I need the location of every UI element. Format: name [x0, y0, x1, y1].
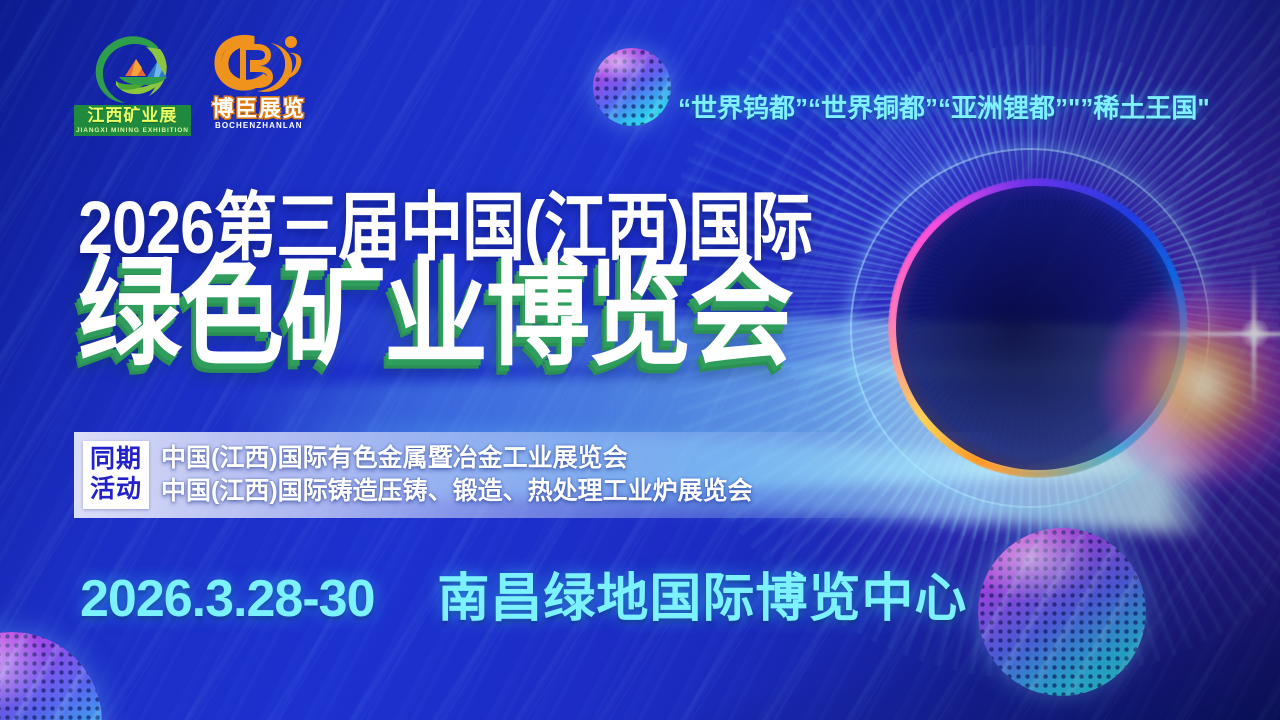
- bochen-logo-cn-text: 博臣展览: [207, 97, 311, 120]
- mountain-leaf-logo-icon: [86, 33, 178, 105]
- badge-line-1: 同期: [90, 445, 142, 475]
- bochen-b-logo-icon: [207, 33, 311, 97]
- halftone-sphere-icon: [593, 48, 671, 126]
- event-venue: 南昌绿地国际博览中心: [437, 570, 967, 628]
- concurrent-events-band: 同期 活动 中国(江西)国际有色金属暨冶金工业展览会 中国(江西)国际铸造压铸、…: [74, 432, 1004, 518]
- concurrent-events-list: 中国(江西)国际有色金属暨冶金工业展览会 中国(江西)国际铸造压铸、锻造、热处理…: [161, 443, 753, 507]
- list-item: 中国(江西)国际铸造压铸、锻造、热处理工业炉展览会: [161, 476, 753, 508]
- bochen-zhanlan-logo: 博臣展览 BOCHENZHANLAN: [207, 33, 311, 130]
- jiangxi-logo-cn-text: 江西矿业展: [74, 105, 191, 127]
- logo-group: 江西矿业展 JIANGXI MINING EXHIBITION 博臣展览 BOC…: [74, 33, 311, 136]
- page-title: 绿色矿业博览会: [78, 255, 792, 374]
- tagline: “世界钨都”“世界铜都”“亚洲锂都”"”稀土王国": [678, 88, 1210, 125]
- exhibition-banner: 江西矿业展 JIANGXI MINING EXHIBITION 博臣展览 BOC…: [0, 0, 1280, 720]
- lens-flare-star: [1240, 318, 1270, 348]
- badge-line-2: 活动: [90, 475, 142, 505]
- event-date: 2026.3.28-30: [80, 570, 375, 628]
- lens-flare-vertical: [1252, 260, 1256, 410]
- portal-hot-glow: [1100, 280, 1280, 490]
- bochen-logo-en-text: BOCHENZHANLAN: [207, 121, 311, 130]
- halftone-sphere-icon: [0, 632, 102, 720]
- list-item: 中国(江西)国际有色金属暨冶金工业展览会: [161, 443, 753, 475]
- halftone-sphere-icon: [978, 528, 1146, 696]
- concurrent-events-badge: 同期 活动: [83, 441, 149, 509]
- jiangxi-mining-exhibition-logo: 江西矿业展 JIANGXI MINING EXHIBITION: [74, 33, 191, 136]
- date-venue: 2026.3.28-30 南昌绿地国际博览中心: [80, 556, 967, 631]
- portal-core: [896, 186, 1180, 470]
- jiangxi-logo-en-text: JIANGXI MINING EXHIBITION: [74, 127, 191, 136]
- lens-flare-horizontal: [1137, 332, 1280, 336]
